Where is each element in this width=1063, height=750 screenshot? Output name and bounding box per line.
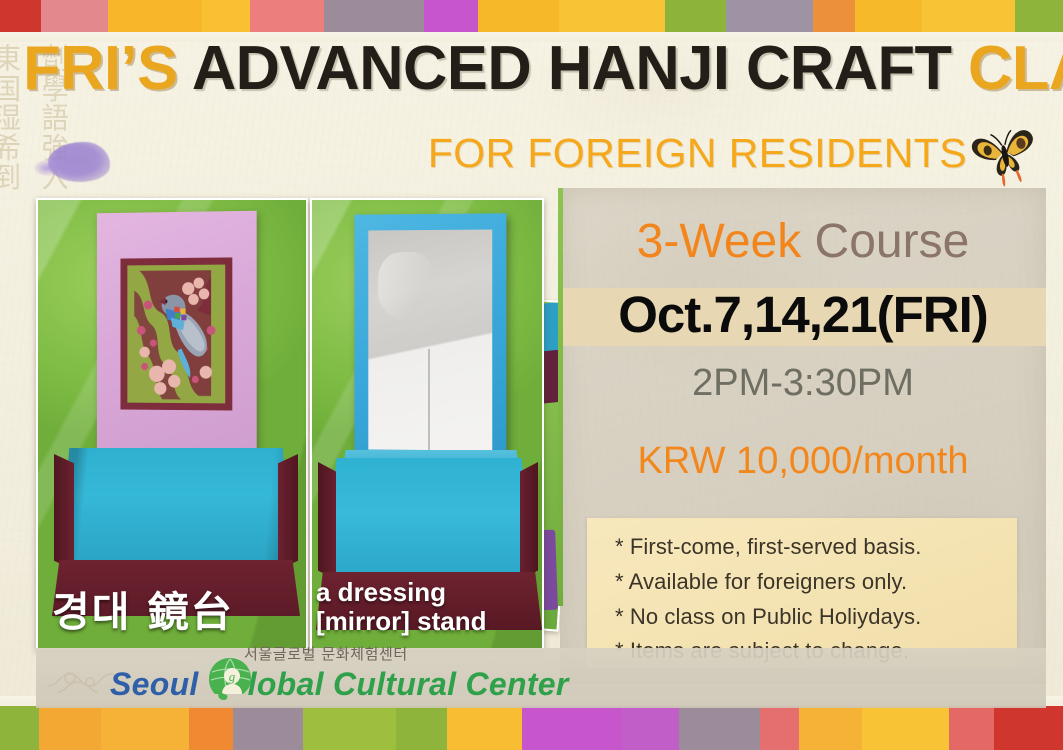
paper-strip-piece (679, 704, 760, 750)
paper-strip-piece (41, 0, 108, 34)
course-duration-line: 3-Week Course (560, 214, 1046, 269)
paper-strip-piece (303, 704, 397, 750)
course-time: 2PM-3:30PM (560, 362, 1046, 405)
logo-seoul-text: Seoul (110, 668, 199, 702)
paper-strip-piece (994, 704, 1063, 750)
note-item: * No class on Public Holiydays. (615, 600, 1017, 635)
butterfly-icon (969, 122, 1041, 188)
purple-ink-blot (48, 142, 110, 182)
note-item: * Available for foreigners only. (615, 565, 1017, 600)
paper-strip-piece (233, 704, 302, 750)
paper-strip-piece (0, 0, 41, 34)
box-lid-with-hanji-art (97, 211, 257, 464)
title-part-advanced: ADVANCED HANJI CRAFT (192, 34, 968, 103)
paper-strip-piece (559, 0, 666, 34)
caption-english-line-1: a dressing (316, 578, 486, 607)
caption-korean: 경대 鏡台 (52, 578, 234, 638)
paper-strip-piece (202, 0, 250, 34)
course-word: Course (801, 215, 969, 268)
paper-strip-piece (447, 704, 522, 750)
paper-strip-piece (324, 0, 424, 34)
top-paper-strip (0, 0, 1063, 34)
bottom-paper-strip (0, 704, 1063, 750)
paper-strip-piece (760, 704, 799, 750)
paper-strip-piece (522, 704, 622, 750)
caption-english-line-2: [mirror] stand (316, 607, 486, 636)
mirror-glass (368, 230, 492, 451)
paper-strip-piece (855, 0, 922, 34)
blue-mirror-frame (354, 213, 506, 466)
page-title: FRI’S ADVANCED HANJI CRAFT CLASS (23, 38, 1043, 100)
course-dates: Oct.7,14,21(FRI) (560, 285, 1046, 344)
paper-strip-piece (813, 0, 854, 34)
svg-text:g: g (228, 669, 235, 684)
notes-box: * First-come, first-served basis.* Avail… (587, 518, 1017, 668)
paper-strip-piece (862, 704, 950, 750)
paper-strip-piece (799, 704, 862, 750)
poster-root: 東 劑 国 學 湿 語 希 強 到 入 FRI’S ADVANCED HANJI… (0, 0, 1063, 750)
paper-strip-piece (949, 704, 994, 750)
purple-ink-blot-small (34, 160, 60, 176)
paper-strip-piece (726, 0, 813, 34)
logo-global-cultural-center-text: lobal Cultural Center (248, 668, 569, 702)
title-part-class: CLASS (968, 34, 1063, 103)
paper-strip-piece (39, 704, 102, 750)
paper-strip-piece (108, 0, 202, 34)
paper-strip-piece (0, 704, 39, 750)
paper-strip-piece (189, 704, 234, 750)
course-info-panel: 3-Week Course Oct.7,14,21(FRI) 2PM-3:30P… (560, 188, 1046, 684)
panel-green-edge (558, 188, 563, 606)
paper-strip-piece (622, 704, 679, 750)
paper-strip-piece (665, 0, 726, 34)
paper-strip-piece (424, 0, 478, 34)
paper-strip-piece (922, 0, 1016, 34)
paper-strip-piece (478, 0, 559, 34)
subtitle: FOR FOREIGN RESIDENTS (428, 130, 967, 177)
paper-strip-piece (396, 704, 447, 750)
globe-person-icon: g (207, 656, 253, 702)
logo: Seoul g lobal Cultural Center (110, 654, 569, 702)
hanji-bird-flower-artwork (120, 257, 232, 410)
note-item: * First-come, first-served basis. (615, 530, 1017, 565)
paper-strip-piece (1015, 0, 1063, 34)
paper-strip-piece (101, 704, 189, 750)
caption-english: a dressing [mirror] stand (316, 578, 486, 636)
course-fee: KRW 10,000/month (560, 440, 1046, 483)
title-part-fris: FRI’S (23, 34, 192, 103)
paper-strip-piece (250, 0, 324, 34)
course-duration: 3-Week (637, 215, 802, 268)
